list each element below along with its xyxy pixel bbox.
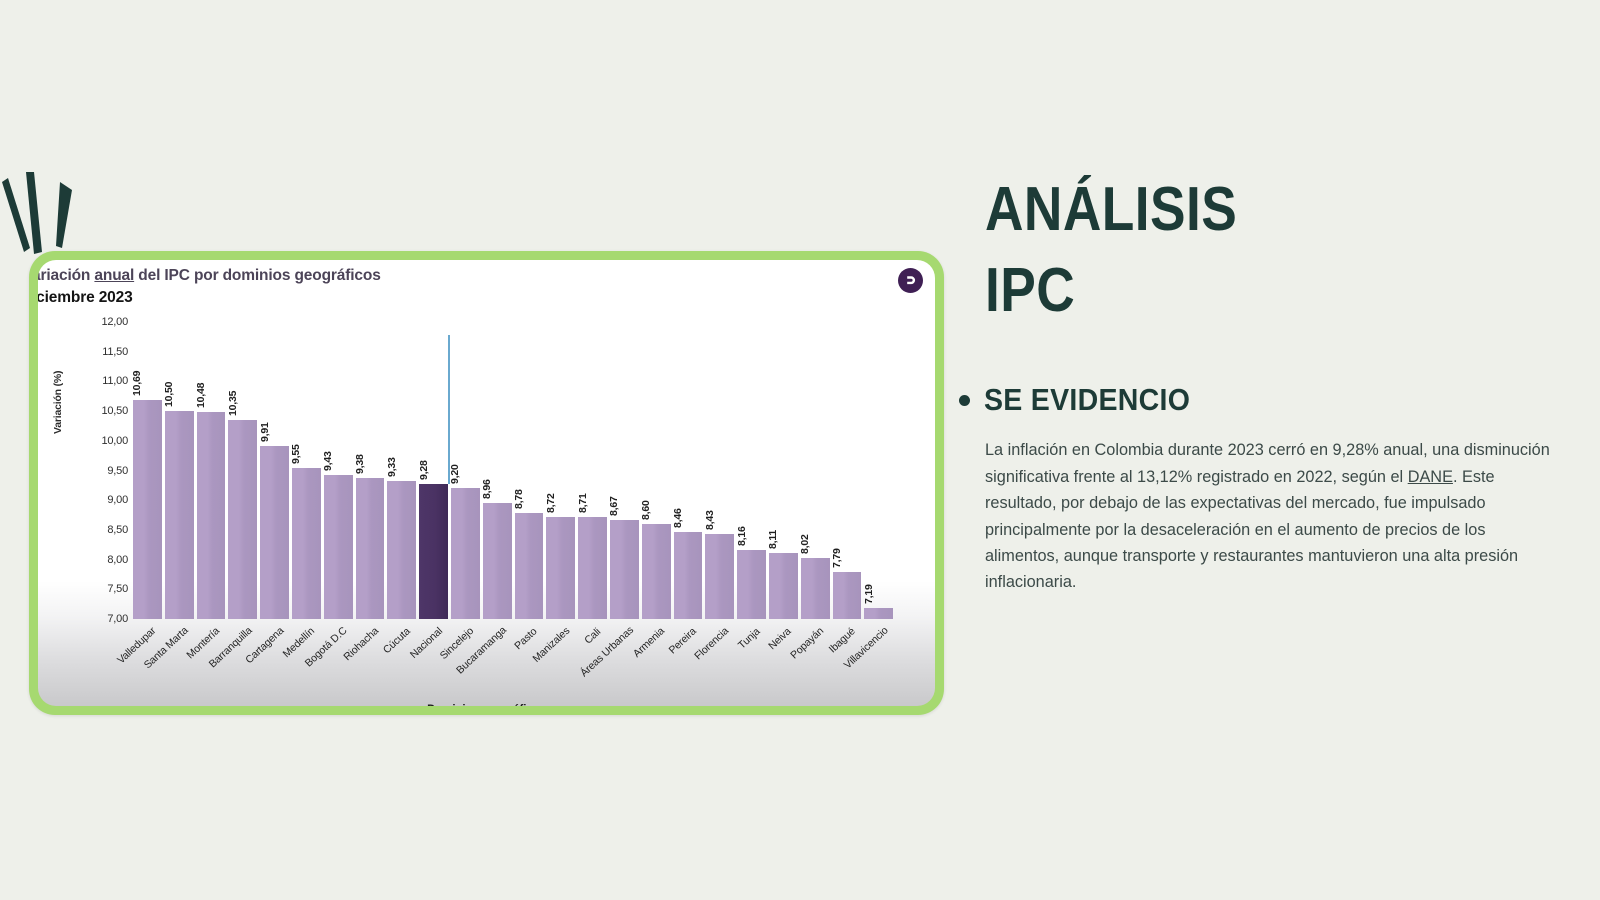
bar-column: 9,28 <box>419 322 448 619</box>
chart-card: ariación anual del IPC por dominios geog… <box>29 251 944 715</box>
body-paragraph: La inflación en Colombia durante 2023 ce… <box>985 437 1555 595</box>
bar-column: 8,78 <box>515 322 544 619</box>
chart-title-line1: ariación anual del IPC por dominios geog… <box>38 266 381 287</box>
x-label-column: Florencia <box>705 619 734 706</box>
page-title: ANÁLISIS IPC <box>985 178 1484 322</box>
bar-column: 9,38 <box>356 322 385 619</box>
bar: 8,46 <box>674 532 703 619</box>
bar: 9,91 <box>260 446 289 619</box>
bar-series: 10,6910,5010,4810,359,919,559,439,389,33… <box>133 322 893 619</box>
bar-value-label: 8,71 <box>577 494 589 514</box>
bar-column: 10,35 <box>228 322 257 619</box>
bar: 9,43 <box>324 475 353 619</box>
bar-value-label: 7,79 <box>831 548 843 568</box>
bar-column: 8,60 <box>642 322 671 619</box>
x-label-column: Neiva <box>769 619 798 706</box>
x-label-column: Tunja <box>737 619 766 706</box>
x-axis-title: Dominios geográficos <box>38 704 935 706</box>
x-axis-labels: ValleduparSanta MartaMonteríaBarranquill… <box>133 619 893 706</box>
y-axis-tick: 7,50 <box>107 583 128 595</box>
bar-column: 8,16 <box>737 322 766 619</box>
bar: 9,20 <box>451 488 480 619</box>
bar-value-label: 7,19 <box>863 584 875 604</box>
bar-value-label: 8,96 <box>481 479 493 499</box>
bar: 10,50 <box>165 411 194 619</box>
bar: 7,19 <box>864 608 893 619</box>
bar-column: 10,69 <box>133 322 162 619</box>
bar: 8,60 <box>642 524 671 619</box>
bar-value-label: 8,78 <box>513 490 525 510</box>
bar: 9,33 <box>387 481 416 619</box>
bar-value-label: 8,67 <box>608 496 620 516</box>
y-axis-tick: 9,50 <box>107 465 128 477</box>
bar-column: 10,48 <box>197 322 226 619</box>
x-label-column: Riohacha <box>356 619 385 706</box>
page-title-line2: IPC <box>985 259 1484 322</box>
page-title-line1: ANÁLISIS <box>985 175 1237 244</box>
bar-value-label: 10,48 <box>195 383 207 408</box>
bar: 10,69 <box>133 400 162 619</box>
bar-value-label: 9,91 <box>259 423 271 443</box>
bar-value-label: 8,60 <box>640 500 652 520</box>
chart-image: ariación anual del IPC por dominios geog… <box>38 260 935 706</box>
plot-area: Variación (%) 12,0011,5011,0010,5010,009… <box>38 322 935 706</box>
bar-value-label: 8,11 <box>767 530 779 549</box>
bar: 8,71 <box>578 517 607 619</box>
chart-title-suffix: del IPC por dominios geográficos <box>134 267 381 284</box>
x-label-column: Nacional <box>419 619 448 706</box>
bar-value-label: 8,72 <box>545 493 557 513</box>
bar-value-label: 8,02 <box>799 535 811 555</box>
x-label-column: Cúcuta <box>387 619 416 706</box>
bar: 8,11 <box>769 553 798 619</box>
bar: 8,78 <box>515 513 544 619</box>
y-axis-ticks: 12,0011,5011,0010,5010,009,509,008,508,0… <box>80 322 128 619</box>
bar-column: 8,96 <box>483 322 512 619</box>
bar-value-label: 9,38 <box>354 454 366 474</box>
bar: 8,02 <box>801 558 830 619</box>
x-label-column: Popayán <box>801 619 830 706</box>
x-axis-label: Pasto <box>512 626 539 653</box>
bar-column: 7,79 <box>833 322 862 619</box>
x-label-column: Bucaramanga <box>483 619 512 706</box>
bar-column: 9,33 <box>387 322 416 619</box>
bar-column: 9,20 <box>451 322 480 619</box>
bar: 9,28 <box>419 484 448 619</box>
slide-canvas: ariación anual del IPC por dominios geog… <box>0 0 1600 900</box>
y-axis-tick: 11,00 <box>102 375 128 387</box>
bar-value-label: 8,43 <box>704 510 716 530</box>
bar-value-label: 10,50 <box>163 382 175 407</box>
bar-column: 8,67 <box>610 322 639 619</box>
x-label-column: Cartagena <box>260 619 289 706</box>
bar-value-label: 9,33 <box>386 457 398 477</box>
chart-title-underlined-word: anual <box>94 267 134 284</box>
y-axis-tick: 8,50 <box>107 524 128 536</box>
bar-column: 8,71 <box>578 322 607 619</box>
dane-logo-badge <box>898 268 923 293</box>
bar-column: 8,72 <box>546 322 575 619</box>
chart-title-line2: iciembre 2023 <box>38 288 381 309</box>
bar-column: 8,46 <box>674 322 703 619</box>
bar-column: 8,02 <box>801 322 830 619</box>
x-axis-label: Cali <box>582 626 603 647</box>
bar: 10,35 <box>228 420 257 619</box>
bar: 8,96 <box>483 503 512 619</box>
text-panel: ANÁLISIS IPC SE EVIDENCIO La inflación e… <box>985 178 1565 612</box>
bar-value-label: 9,20 <box>449 465 461 485</box>
bar-value-label: 8,46 <box>672 509 684 529</box>
y-axis-tick: 7,00 <box>107 613 128 625</box>
y-axis-tick: 12,00 <box>101 316 128 328</box>
bar: 8,43 <box>705 534 734 619</box>
bar-value-label: 9,55 <box>290 444 302 464</box>
bar: 8,67 <box>610 520 639 619</box>
bar-column: 9,91 <box>260 322 289 619</box>
dane-link[interactable]: DANE <box>1408 468 1453 486</box>
bar: 8,16 <box>737 550 766 619</box>
dane-d-glyph-icon <box>903 273 918 288</box>
bar-value-label: 10,69 <box>131 371 143 396</box>
bar-column: 8,43 <box>705 322 734 619</box>
bar: 7,79 <box>833 572 862 619</box>
bar-column: 8,11 <box>769 322 798 619</box>
x-label-column: Manizales <box>546 619 575 706</box>
y-axis-tick: 9,00 <box>107 494 128 506</box>
x-label-column: Santa Marta <box>165 619 194 706</box>
bar-value-label: 8,16 <box>736 526 748 546</box>
y-axis-tick: 8,00 <box>107 554 128 566</box>
x-axis-label: Neiva <box>767 626 794 653</box>
x-label-column: Áreas Urbanas <box>610 619 639 706</box>
chart-title-prefix: ariación <box>38 267 94 284</box>
bar: 10,48 <box>197 412 226 619</box>
bar-column: 9,43 <box>324 322 353 619</box>
bar-column: 10,50 <box>165 322 194 619</box>
x-label-column: Armenia <box>642 619 671 706</box>
y-axis-tick: 10,00 <box>101 435 128 447</box>
bar-value-label: 9,43 <box>322 451 334 471</box>
bar-column: 7,19 <box>864 322 893 619</box>
chart-title-block: ariación anual del IPC por dominios geog… <box>38 266 381 309</box>
bar-value-label: 9,28 <box>418 460 430 480</box>
y-axis-tick: 11,50 <box>102 346 128 358</box>
bar: 9,38 <box>356 478 385 619</box>
bullet-dot-icon <box>959 395 970 406</box>
y-axis-tick: 10,50 <box>101 405 128 417</box>
x-label-column: Pereira <box>674 619 703 706</box>
x-axis-label: Tunja <box>735 626 762 652</box>
bar: 9,55 <box>292 468 321 619</box>
bar-column: 9,55 <box>292 322 321 619</box>
bullet-heading-label: SE EVIDENCIO <box>984 382 1190 418</box>
bar: 8,72 <box>546 517 575 619</box>
y-axis-title: Variación (%) <box>52 418 64 434</box>
bullet-heading-row: SE EVIDENCIO <box>959 382 1565 418</box>
cursor-line <box>448 335 450 484</box>
x-label-column: Villavicencio <box>864 619 893 706</box>
paragraph-part2: . Este resultado, por debajo de las expe… <box>985 468 1518 592</box>
bar-value-label: 10,35 <box>227 391 239 416</box>
